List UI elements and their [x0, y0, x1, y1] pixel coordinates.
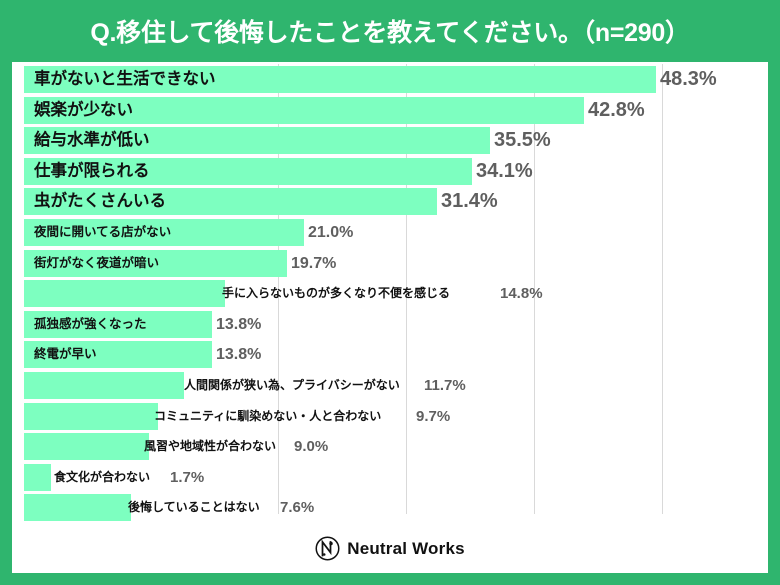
bar-row[interactable]: 仕事が限られる34.1%	[12, 158, 768, 185]
bar-row[interactable]: 給与水準が低い35.5%	[12, 127, 768, 154]
bar-row[interactable]: 終電が早い13.8%	[12, 341, 768, 368]
bar-value-label: 9.7%	[416, 403, 450, 430]
bar-category-label: 夜間に開いてる店がない	[34, 219, 171, 246]
bar-chart: 車がないと生活できない48.3%娯楽が少ない42.8%給与水準が低い35.5%仕…	[12, 62, 768, 524]
bar-fill	[24, 464, 51, 491]
bar-category-label: 街灯がなく夜道が暗い	[34, 250, 159, 277]
bar-row[interactable]: 孤独感が強くなった13.8%	[12, 311, 768, 338]
bar-category-label: コミュニティに馴染めない・人と合わない	[154, 403, 381, 430]
bar-category-label: 車がないと生活できない	[34, 66, 216, 93]
chart-header: Q.移住して後悔したことを教えてください。（n=290）	[0, 0, 780, 62]
bar-row[interactable]: 虫がたくさんいる31.4%	[12, 188, 768, 215]
bar-value-label: 11.7%	[424, 372, 466, 399]
brand-footer: Neutral Works	[12, 524, 768, 573]
bar-value-label: 7.6%	[280, 494, 314, 521]
bar-category-label: 給与水準が低い	[34, 127, 150, 154]
page-title: Q.移住して後悔したことを教えてください。（n=290）	[90, 13, 689, 49]
bar-row[interactable]: 食文化が合わない1.7%	[12, 464, 768, 491]
bar-value-label: 48.3%	[660, 66, 717, 93]
infographic-frame: Q.移住して後悔したことを教えてください。（n=290） 車がないと生活できない…	[0, 0, 780, 585]
bar-value-label: 14.8%	[500, 280, 543, 307]
bar-value-label: 13.8%	[216, 311, 261, 338]
bar-value-label: 21.0%	[308, 219, 353, 246]
bar-row[interactable]: 風習や地域性が合わない9.0%	[12, 433, 768, 460]
bar-category-label: 孤独感が強くなった	[34, 311, 147, 338]
bar-value-label: 13.8%	[216, 341, 261, 368]
bar-category-label: 風習や地域性が合わない	[144, 433, 276, 460]
chart-panel: 車がないと生活できない48.3%娯楽が少ない42.8%給与水準が低い35.5%仕…	[12, 62, 768, 573]
brand-name: Neutral Works	[347, 539, 465, 559]
bar-fill	[24, 280, 225, 307]
bar-row[interactable]: 人間関係が狭い為、プライバシーがない11.7%	[12, 372, 768, 399]
bar-row[interactable]: 娯楽が少ない42.8%	[12, 97, 768, 124]
bar-row[interactable]: 夜間に開いてる店がない21.0%	[12, 219, 768, 246]
bar-category-label: 人間関係が狭い為、プライバシーがない	[184, 372, 400, 399]
bar-category-label: 後悔していることはない	[128, 494, 260, 521]
bar-category-label: 終電が早い	[34, 341, 97, 368]
bar-fill	[24, 494, 131, 521]
bar-value-label: 19.7%	[291, 250, 336, 277]
bar-value-label: 35.5%	[494, 127, 551, 154]
bar-value-label: 1.7%	[170, 464, 204, 491]
bar-fill	[24, 372, 184, 399]
bar-category-label: 手に入らないものが多くなり不便を感じる	[222, 280, 450, 307]
bar-fill	[24, 403, 158, 430]
neutral-works-logo-icon	[315, 536, 340, 561]
bar-category-label: 食文化が合わない	[54, 464, 150, 491]
bar-value-label: 34.1%	[476, 158, 533, 185]
chart-rows: 車がないと生活できない48.3%娯楽が少ない42.8%給与水準が低い35.5%仕…	[12, 62, 768, 524]
bar-value-label: 42.8%	[588, 97, 645, 124]
bar-row[interactable]: 後悔していることはない7.6%	[12, 494, 768, 521]
bar-category-label: 虫がたくさんいる	[34, 188, 166, 215]
bar-row[interactable]: 車がないと生活できない48.3%	[12, 66, 768, 93]
bar-category-label: 娯楽が少ない	[34, 97, 133, 124]
logo-circle-n-icon	[315, 536, 340, 561]
bar-category-label: 仕事が限られる	[34, 158, 150, 185]
bar-value-label: 31.4%	[441, 188, 498, 215]
bar-row[interactable]: コミュニティに馴染めない・人と合わない9.7%	[12, 403, 768, 430]
bar-row[interactable]: 手に入らないものが多くなり不便を感じる14.8%	[12, 280, 768, 307]
bar-fill	[24, 433, 149, 460]
bar-row[interactable]: 街灯がなく夜道が暗い19.7%	[12, 250, 768, 277]
bar-value-label: 9.0%	[294, 433, 328, 460]
